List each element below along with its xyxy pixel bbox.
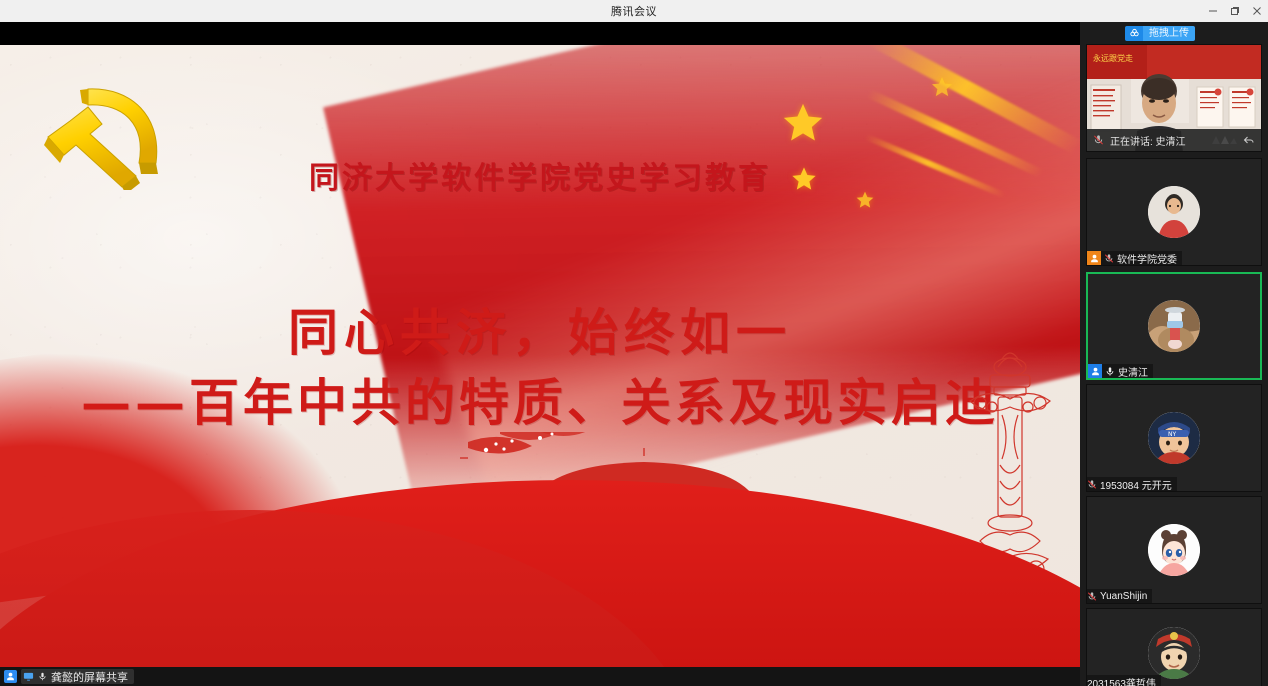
share-owner-label: 龚懿的屏幕共享 [51,669,128,685]
participant-tile-active[interactable]: 史清江 [1086,272,1262,380]
host-badge-icon [1087,251,1101,265]
tencent-meeting-window: 腾讯会议 [0,0,1268,686]
participant-name: 史清江 [1118,364,1148,379]
microphone-icon [38,671,47,682]
cloud-upload-icon [1125,26,1143,41]
participant-name: 2031563龚哲伟 [1087,675,1156,686]
participant-label: 2031563龚哲伟 [1087,675,1161,686]
participant-name: 软件学院党委 [1117,251,1177,266]
mic-muted-icon[interactable] [1104,253,1114,264]
participant-label: YuanShijin [1087,589,1152,603]
drag-upload-badge[interactable]: 拖拽上传 [1125,26,1195,41]
slide-header-text: 同济大学软件学院党史学习教育 [0,153,1080,197]
avatar [1148,627,1200,679]
participant-tile[interactable]: 软件学院党委 [1086,158,1262,266]
participant-tile[interactable]: NY 1953084 元开元 [1086,384,1262,492]
participant-name: YuanShijin [1100,591,1147,602]
participant-tile[interactable]: YuanShijin [1086,496,1262,604]
minimize-button[interactable] [1202,0,1224,22]
active-speaker-name: 正在讲话: 史清江 [1110,133,1205,148]
gold-star-icon [780,100,826,146]
participant-tile-speaker[interactable]: 永远跟党走 [1086,44,1262,152]
mic-muted-icon[interactable] [1093,134,1104,146]
presentation-slide: 同济大学软件学院党史学习教育 同心共济，始终如一 ——百年中共的特质、关系及现实… [0,45,1080,686]
shared-screen-stage[interactable]: 同济大学软件学院党史学习教育 同心共济，始终如一 ——百年中共的特质、关系及现实… [0,22,1080,686]
screen-share-statusbar: 龚懿的屏幕共享 [0,667,1080,686]
avatar [1148,524,1200,576]
avatar [1148,186,1200,238]
avatar: NY [1148,412,1200,464]
share-status-pill: 龚懿的屏幕共享 [21,669,134,684]
window-titlebar: 腾讯会议 [0,0,1268,22]
drag-upload-label: 拖拽上传 [1143,26,1195,41]
participant-tile[interactable]: 2031563龚哲伟 [1086,608,1262,686]
mic-muted-icon[interactable] [1087,591,1097,602]
gold-star-icon [930,75,954,99]
participant-label: 史清江 [1088,364,1153,378]
maximize-button[interactable] [1224,0,1246,22]
avatar [1148,300,1200,352]
participant-label: 1953084 元开元 [1087,477,1177,491]
window-title: 腾讯会议 [611,3,657,19]
self-badge-icon [1088,364,1102,378]
window-controls [1202,0,1268,22]
participant-rail[interactable]: 拖拽上传 永远跟党走 [1080,22,1268,686]
close-button[interactable] [1246,0,1268,22]
mic-on-icon[interactable] [1105,366,1115,377]
svg-text:永远跟党走: 永远跟党走 [1093,53,1133,63]
participant-name: 1953084 元开元 [1100,477,1172,492]
volume-wave-icon [1211,135,1237,145]
active-speaker-bar: 正在讲话: 史清江 [1087,129,1261,151]
mic-muted-icon[interactable] [1087,479,1097,490]
participant-label: 软件学院党委 [1087,251,1182,265]
svg-text:NY: NY [1168,431,1176,438]
monitor-icon [23,671,34,682]
person-icon [4,670,17,683]
collapse-arrow-icon[interactable] [1243,134,1255,146]
